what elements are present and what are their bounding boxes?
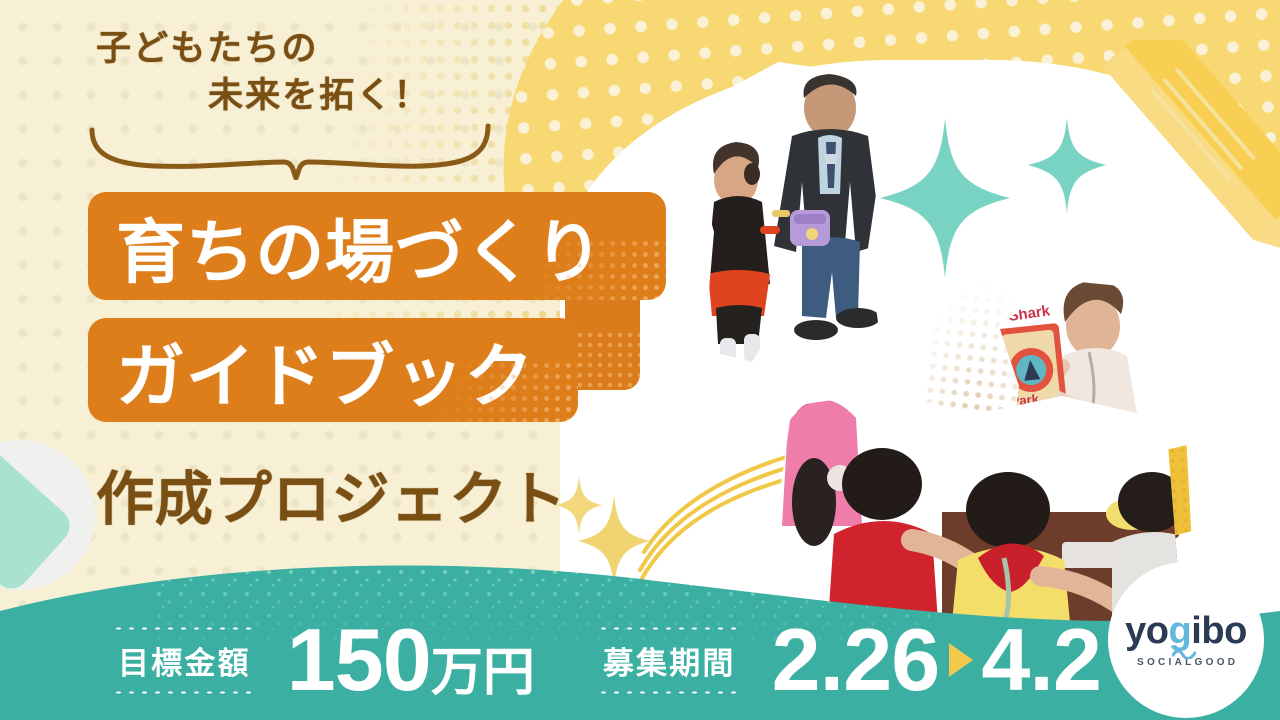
subtitle-text: 作成プロジェクト xyxy=(96,452,567,536)
campaign-period-stat: 募集期間 2.26 4.2 xyxy=(597,616,1101,704)
yogibo-wordmark-part1: yo xyxy=(1125,610,1168,652)
period-arrow-icon xyxy=(949,643,973,677)
campaign-period-value: 2.26 4.2 xyxy=(772,616,1101,704)
footer-stats-row: 目標金額 150 万円 募集期間 2.26 4.2 xyxy=(0,600,1280,720)
title-band-secondary: ガイドブック xyxy=(88,318,578,422)
goal-amount-unit: 万円 xyxy=(431,647,535,699)
title-band-secondary-text: ガイドブック xyxy=(116,320,534,420)
kicker-text: 子どもたちの 未来を拓く！ xyxy=(96,26,566,119)
kicker-line-2: 未来を拓く！ xyxy=(96,73,566,120)
goal-amount-number: 150 xyxy=(287,616,431,704)
yellow-pencil-icon xyxy=(1085,40,1280,255)
kicker-line-1: 子どもたちの xyxy=(96,29,319,68)
goal-amount-stat: 目標金額 150 万円 xyxy=(112,616,535,704)
yogibo-wordmark: yogibo xyxy=(1125,612,1247,650)
yogibo-wordmark-part2: ibo xyxy=(1191,610,1247,652)
goal-amount-value: 150 万円 xyxy=(287,616,535,704)
campaign-poster: Shark Park xyxy=(0,0,1280,720)
teal-sparkle-small-icon xyxy=(1028,118,1106,213)
photo-man-and-girl xyxy=(668,62,918,362)
title-band-primary: 育ちの場づくり xyxy=(88,192,666,300)
period-end-date: 4.2 xyxy=(981,616,1101,704)
curly-brace-underline-icon xyxy=(84,120,504,180)
yogibo-wordmark-accent: g xyxy=(1169,610,1192,652)
campaign-period-label: 募集期間 xyxy=(597,624,742,697)
yogibo-logo-badge: yogibo SOCIALGOOD xyxy=(1108,562,1264,718)
yogibo-squiggle-icon xyxy=(1172,647,1196,659)
title-band-primary-text: 育ちの場づくり xyxy=(116,196,604,296)
period-start-date: 2.26 xyxy=(772,616,940,704)
goal-amount-label: 目標金額 xyxy=(112,624,257,697)
